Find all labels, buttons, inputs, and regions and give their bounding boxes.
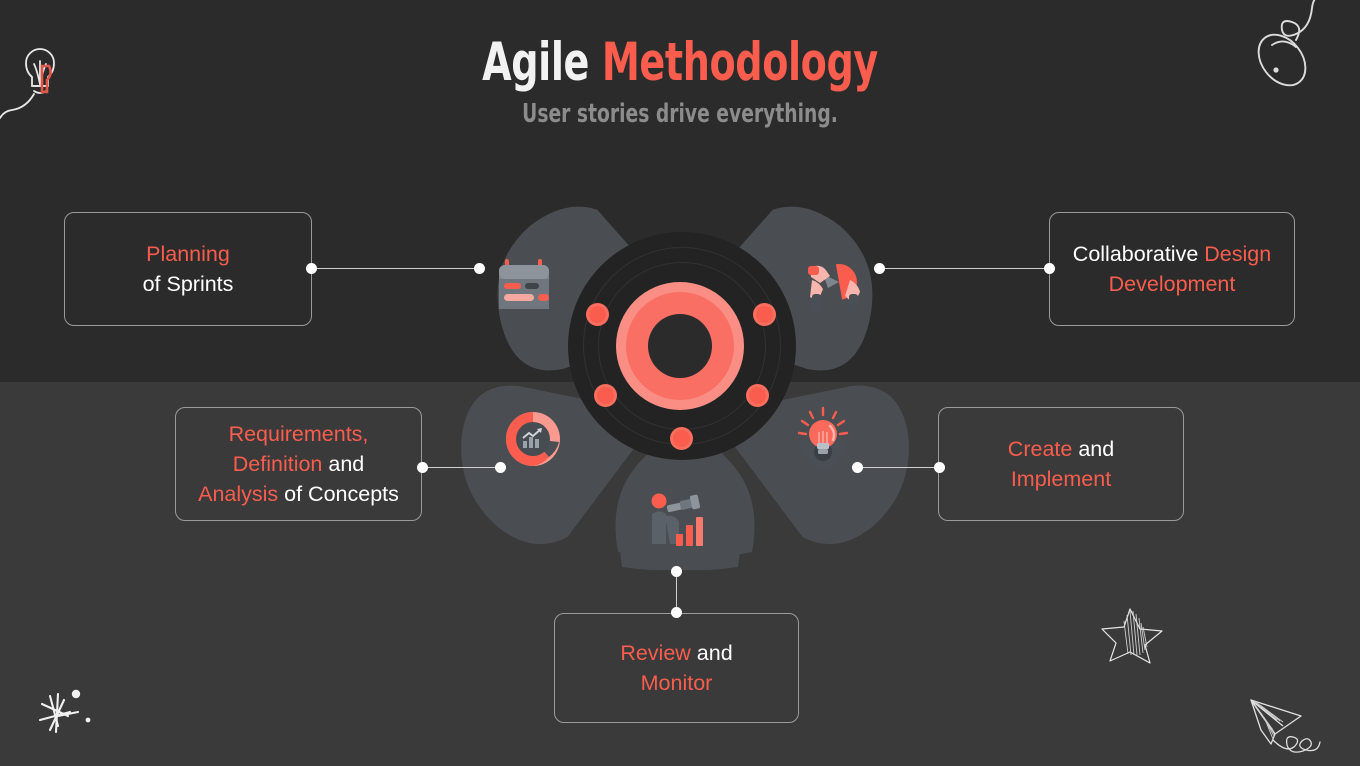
center-node-dot-mid-left [594,384,617,407]
connector-dot-requirements-petal [495,462,506,473]
center-node-dot-bottom [670,427,693,450]
lightbulb-doodle [0,22,80,132]
connector-dot-create-box [934,462,945,473]
connector-line-requirements [423,467,501,468]
connector-dot-collaborative-box [1044,263,1055,274]
computer-mouse-doodle [1248,0,1360,100]
star-doodle [1100,605,1166,665]
connector-line-create [858,467,940,468]
puzzle-hands-icon [806,256,870,316]
review-line-2: Monitor [620,668,732,698]
step-label-requirements[interactable]: Requirements, Definition and Analysis of… [175,407,422,521]
connector-dot-collaborative-petal [874,263,885,274]
planning-line-2: of Sprints [143,269,234,299]
title-word-agile: Agile [482,32,589,93]
center-node-dot-mid-right [746,384,769,407]
step-label-create-implement[interactable]: Create and Implement [938,407,1184,521]
create-line-1: Create and [1008,434,1114,464]
page-subtitle: User stories drive everything. [136,99,1224,129]
connector-line-planning [312,268,480,269]
review-line-1: Review and [620,638,732,668]
connector-line-collaborative [880,268,1050,269]
slide-canvas: Agile Methodology User stories drive eve… [0,0,1360,766]
paper-plane-doodle [1243,686,1360,766]
connector-dot-requirements-box [417,462,428,473]
title-word-methodology: Methodology [602,32,878,93]
slide-header: Agile Methodology User stories drive eve… [0,34,1360,129]
sparkle-doodle [28,682,108,752]
lightbulb-gear-icon [792,406,854,470]
requirements-line-1: Requirements, [198,419,399,449]
collaborative-line-2: Development [1073,269,1271,299]
connector-dot-planning-box [306,263,317,274]
connector-dot-planning-petal [474,263,485,274]
calendar-planning-icon [494,256,554,316]
step-label-collaborative-design[interactable]: Collaborative Design Development [1049,212,1295,326]
center-node-dot-top-right [753,303,776,326]
center-ring-hole [648,314,712,378]
connector-dot-create-petal [852,462,863,473]
donut-analytics-icon [502,408,564,470]
telescope-chart-icon [648,490,710,548]
connector-dot-review-box [671,607,682,618]
center-node-dot-top-left [586,303,609,326]
create-line-2: Implement [1008,464,1114,494]
page-title: Agile Methodology [136,34,1224,91]
step-label-review-monitor[interactable]: Review and Monitor [554,613,799,723]
requirements-line-3: Analysis of Concepts [198,479,399,509]
connector-dot-review-petal [671,566,682,577]
collaborative-line-1: Collaborative Design [1073,239,1271,269]
requirements-line-2: Definition and [198,449,399,479]
planning-line-1: Planning [143,239,234,269]
step-label-planning[interactable]: Planning of Sprints [64,212,312,326]
